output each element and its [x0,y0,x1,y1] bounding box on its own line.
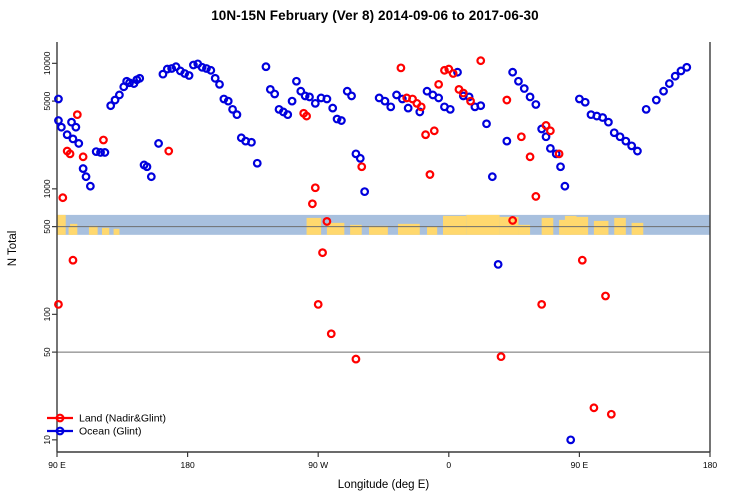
data-point-marker [518,133,525,140]
data-point-marker [358,163,365,170]
data-point-marker [58,124,65,131]
data-point-marker [87,183,94,190]
map-land-span [369,226,388,235]
map-land-span [427,227,437,235]
data-point-marker [148,173,155,180]
map-land-span [57,215,66,235]
map-land-span [69,227,73,235]
data-point-marker [357,155,364,162]
y-tick-label: 100 [42,307,52,321]
x-tick-label: 180 [703,460,717,470]
data-point-marker [628,143,635,150]
data-point-marker [234,111,241,118]
data-point-marker [653,97,660,104]
data-point-marker [672,73,679,80]
data-point-marker [605,119,612,126]
data-point-marker [271,91,278,98]
map-land-span [632,223,644,235]
data-point-marker [634,148,641,155]
data-point-marker [477,102,484,109]
data-point-marker [208,67,215,74]
map-land-span [89,226,98,235]
data-point-marker [55,301,62,308]
data-point-marker [324,96,331,103]
data-point-marker [450,70,457,77]
data-point-marker [75,140,82,147]
map-land-span [443,216,466,235]
data-point-marker [405,105,412,112]
data-point-marker [353,356,360,363]
data-point-marker [608,411,615,418]
data-point-marker [73,124,80,131]
data-point-marker [116,92,123,99]
data-point-marker [284,111,291,118]
chart-legend: Land (Nadir&Glint)Ocean (Glint) [47,413,166,438]
data-point-marker [328,330,335,337]
data-point-marker [361,188,368,195]
legend-label: Ocean (Glint) [79,426,141,438]
data-point-marker [567,437,574,444]
data-point-marker [418,104,425,111]
data-point-marker [80,154,87,161]
data-point-marker [579,257,586,264]
data-point-marker [306,94,313,101]
data-point-marker [186,72,193,79]
data-point-marker [538,301,545,308]
map-land-span [594,221,609,235]
data-point-marker [55,96,62,103]
data-point-marker [435,81,442,88]
data-point-marker [70,257,77,264]
data-point-marker [477,57,484,64]
data-point-marker [591,405,598,412]
data-point-marker [547,128,554,135]
data-point-marker [582,99,589,106]
y-tick-label: 500 [42,219,52,233]
data-point-marker [504,97,511,104]
scatter-plot: 1050100500100050001000090 E18090 W090 E1… [0,0,750,500]
data-point-marker [483,120,490,127]
y-tick-label: 50 [42,347,52,357]
data-point-marker [80,165,87,172]
data-point-marker [557,163,564,170]
data-point-marker [225,98,232,105]
map-land-span [576,217,588,235]
map-land-span [114,229,120,235]
chart-root: 10N-15N February (Ver 8) 2014-09-06 to 2… [0,0,750,500]
data-point-marker [338,117,345,124]
legend-label: Land (Nadir&Glint) [79,413,166,425]
data-point-marker [447,106,454,113]
data-point-marker [155,140,162,147]
data-point-marker [329,105,336,112]
data-point-marker [216,81,223,88]
x-tick-label: 0 [446,460,451,470]
data-point-marker [602,293,609,300]
data-point-marker [74,111,81,118]
data-point-marker [312,100,319,107]
data-point-marker [515,78,522,85]
data-point-marker [427,171,434,178]
data-point-marker [509,69,516,76]
data-point-marker [348,93,355,100]
data-point-marker [293,78,300,85]
data-point-marker [643,106,650,113]
data-point-marker [660,88,667,95]
x-tick-label: 90 E [48,460,66,470]
data-point-marker [100,137,107,144]
y-axis-title: N Total [7,231,19,267]
map-land-span [398,224,420,235]
data-point-marker [504,138,511,145]
y-tick-label: 1000 [42,179,52,198]
y-tick-label: 5000 [42,91,52,110]
data-point-marker [83,173,90,180]
data-point-marker [533,193,540,200]
data-point-marker [165,148,172,155]
data-point-marker [527,94,534,101]
y-tick-label: 10 [42,435,52,445]
x-tick-label: 180 [181,460,195,470]
data-point-marker [495,261,502,268]
data-point-marker [527,154,534,161]
map-land-span [102,228,109,235]
data-point-marker [431,128,438,135]
data-point-marker [435,95,442,102]
data-point-marker [398,65,405,72]
data-point-marker [666,80,673,87]
x-axis-title: Longitude (deg E) [338,479,430,491]
data-point-marker [562,183,569,190]
grid-lines [57,227,710,352]
data-point-marker [533,101,540,108]
data-point-marker [382,98,389,105]
data-point-marker [289,98,296,105]
data-point-marker [521,85,528,92]
x-tick-label: 90 W [308,460,328,470]
data-point-marker [263,63,270,70]
map-land-span [466,215,499,235]
data-point-marker [422,131,429,138]
y-tick-label: 10000 [42,51,52,75]
data-point-marker [547,145,554,152]
data-point-marker [683,64,690,71]
map-land-span [565,216,577,235]
data-point-marker [248,139,255,146]
data-point-marker [254,160,261,167]
data-points [55,57,690,443]
data-point-marker [60,194,67,201]
data-point-marker [309,200,316,207]
data-point-marker [319,249,326,256]
world-map-band [57,215,710,235]
data-point-marker [315,301,322,308]
data-point-marker [467,98,474,105]
data-point-marker [498,353,505,360]
x-tick-label: 90 E [571,460,589,470]
data-point-marker [387,104,394,111]
axis-ticks: 1050100500100050001000090 E18090 W090 E1… [42,51,717,470]
data-point-marker [312,184,319,191]
data-point-marker [489,173,496,180]
